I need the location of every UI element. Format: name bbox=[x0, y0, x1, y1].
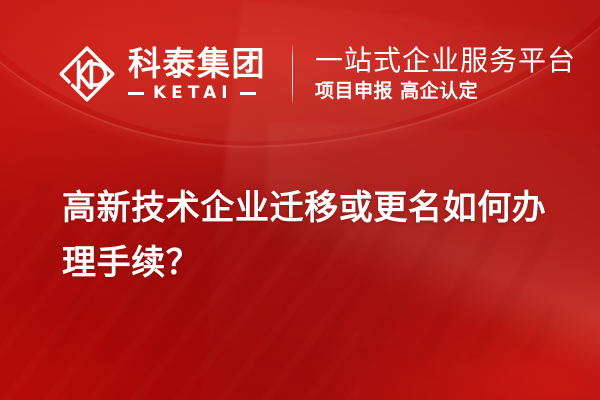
logo-en-row: KETAI bbox=[128, 85, 266, 102]
logo-company-name-en: KETAI bbox=[144, 85, 240, 102]
headline-title: 高新技术企业迁移或更名如何办理手续？ bbox=[62, 181, 572, 291]
ketai-diamond-kt-monogram-icon bbox=[58, 45, 116, 103]
vertical-divider-icon bbox=[292, 45, 293, 103]
promo-banner: 科泰集团 KETAI 一站式企业服务平台 项目申报 高企认定 高新技术企业迁移或… bbox=[0, 0, 600, 400]
brand-header: 科泰集团 KETAI 一站式企业服务平台 项目申报 高企认定 bbox=[58, 38, 576, 110]
logo-lockup[interactable]: 科泰集团 KETAI bbox=[58, 39, 266, 109]
logo-rule-left-icon bbox=[128, 92, 144, 95]
tagline-secondary: 项目申报 高企认定 bbox=[315, 81, 576, 103]
logo-wordmark: 科泰集团 KETAI bbox=[128, 46, 266, 102]
logo-rule-right-icon bbox=[240, 92, 256, 95]
tagline-primary: 一站式企业服务平台 bbox=[315, 45, 576, 76]
logo-company-name-cn: 科泰集团 bbox=[128, 47, 266, 82]
tagline-block: 一站式企业服务平台 项目申报 高企认定 bbox=[315, 45, 576, 103]
